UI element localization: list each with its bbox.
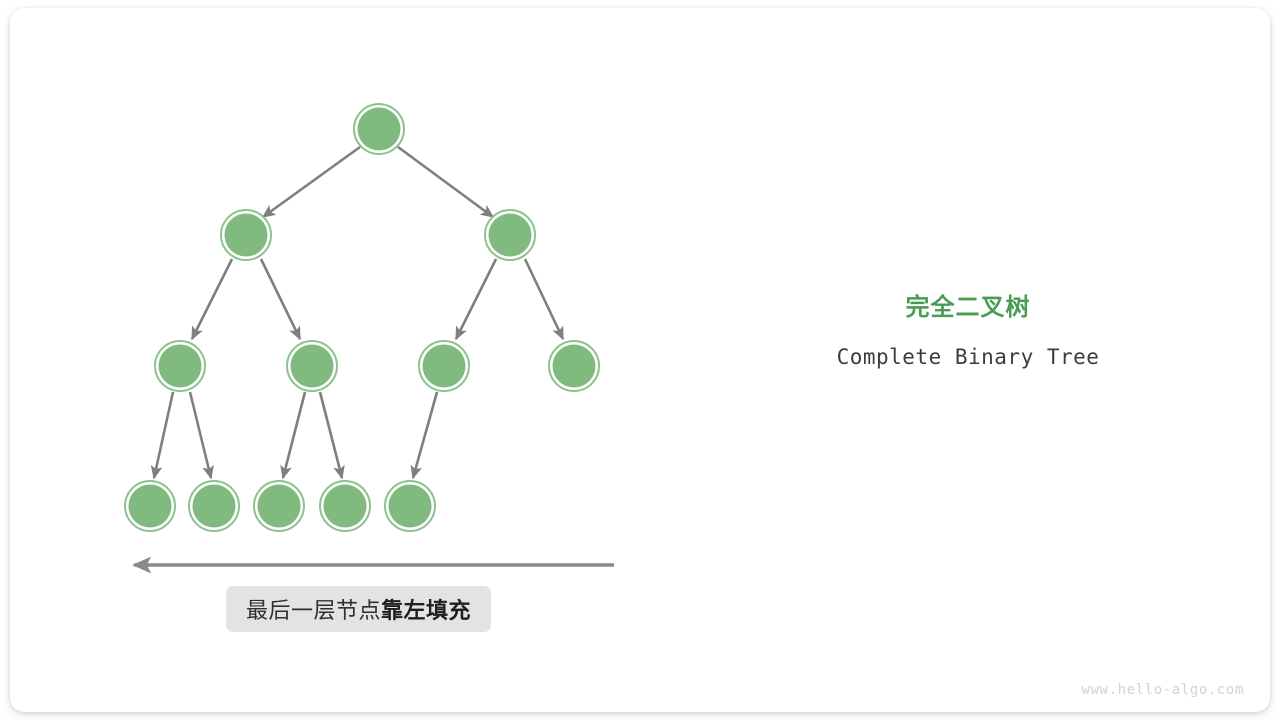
edge-n6-n12 [413,392,437,478]
tree-node-n3[interactable] [485,210,535,260]
edge-n3-n6 [456,259,496,339]
figure-title-en: Complete Binary Tree [748,345,1188,369]
tree-node-n1[interactable] [354,104,404,154]
caption-emphasis: 靠左填充 [381,598,471,623]
edge-n3-n7 [525,259,563,339]
caption-prefix: 最后一层节点 [246,598,381,623]
tree-node-n7[interactable] [549,341,599,391]
edge-n5-n10 [283,392,305,478]
tree-node-n9[interactable] [189,481,239,531]
figure-canvas: 完全二叉树 Complete Binary Tree 最后一层节点靠左填充 ww… [0,0,1280,720]
tree-node-n11[interactable] [320,481,370,531]
edge-n5-n11 [320,392,342,478]
tree-nodes [125,104,599,531]
edge-n1-n2 [263,147,360,217]
edge-n2-n5 [261,259,300,339]
edge-n4-n9 [190,392,211,478]
tree-node-n2[interactable] [221,210,271,260]
tree-edges [154,147,563,478]
tree-node-n5[interactable] [287,341,337,391]
figure-title-cn: 完全二叉树 [748,292,1188,323]
edge-n2-n4 [192,259,232,339]
site-watermark: www.hello-algo.com [1081,682,1244,698]
tree-node-n8[interactable] [125,481,175,531]
edge-n1-n3 [398,147,493,217]
tree-node-n6[interactable] [419,341,469,391]
left-fill-caption-pill: 最后一层节点靠左填充 [226,586,491,632]
caption-text: 最后一层节点靠左填充 [246,593,471,625]
tree-node-n4[interactable] [155,341,205,391]
tree-node-n10[interactable] [254,481,304,531]
figure-legend: 完全二叉树 Complete Binary Tree [748,292,1188,369]
edge-n4-n8 [154,392,173,478]
tree-node-n12[interactable] [385,481,435,531]
